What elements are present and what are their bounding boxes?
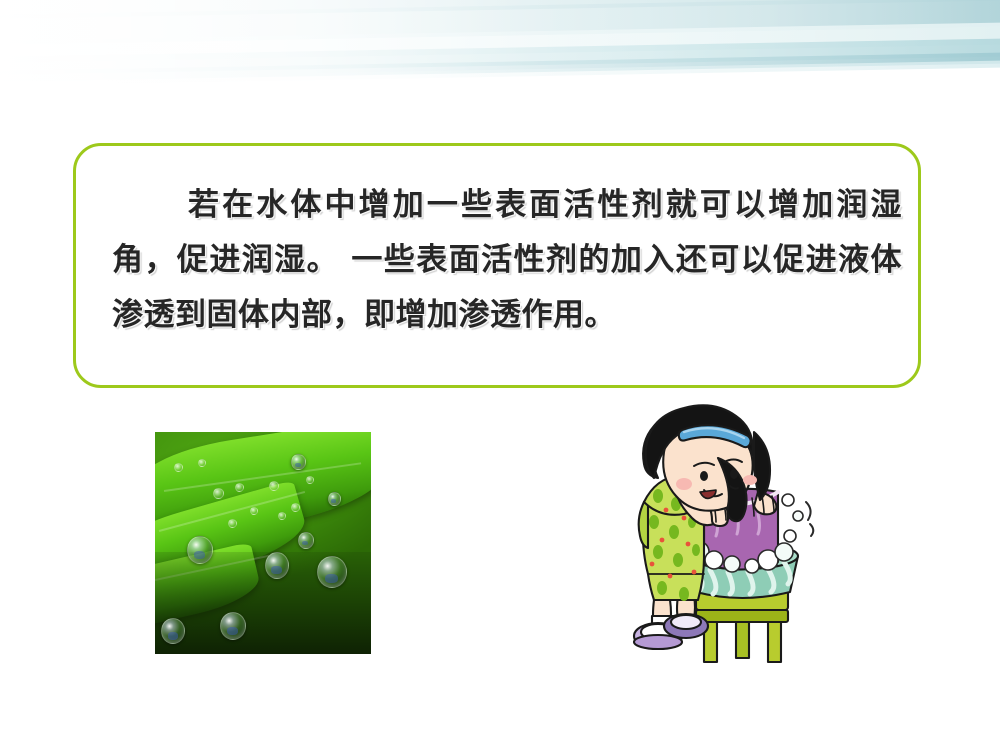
band-stripe-6	[0, 59, 1000, 87]
band-white-fade	[0, 0, 1000, 92]
band-stripe-5	[0, 51, 1000, 83]
small-water-bead	[198, 459, 206, 467]
cartoon-svg	[618, 404, 833, 664]
small-water-bead	[278, 512, 286, 520]
water-droplet	[265, 552, 289, 579]
small-water-bead	[228, 519, 237, 528]
small-water-bead	[235, 483, 244, 492]
body-paragraph: 若在水体中增加一些表面活性剂就可以增加润湿角，促进润湿。 一些表面活性剂的加入还…	[112, 178, 902, 343]
band-stripe-4	[0, 37, 1000, 76]
band-stripe-3	[0, 21, 1000, 64]
band-stripe-1	[0, 0, 1000, 20]
water-droplet	[328, 492, 341, 506]
decorative-gradient-band	[0, 0, 1000, 92]
band-stripe-2	[0, 0, 1000, 46]
leaf-photo-content	[155, 432, 371, 654]
splash-marks	[806, 502, 813, 536]
content-callout-box: 若在水体中增加一些表面活性剂就可以增加润湿角，促进润湿。 一些表面活性剂的加入还…	[73, 143, 921, 388]
leaf-with-water-droplets-photo	[155, 432, 371, 654]
girl-washing-clothes-illustration	[618, 404, 833, 664]
water-droplet	[220, 612, 246, 640]
small-water-bead	[213, 488, 224, 499]
stool-shape	[696, 590, 788, 662]
slide-canvas: 若在水体中增加一些表面活性剂就可以增加润湿角，促进润湿。 一些表面活性剂的加入还…	[0, 0, 1000, 750]
water-droplet	[298, 532, 314, 549]
